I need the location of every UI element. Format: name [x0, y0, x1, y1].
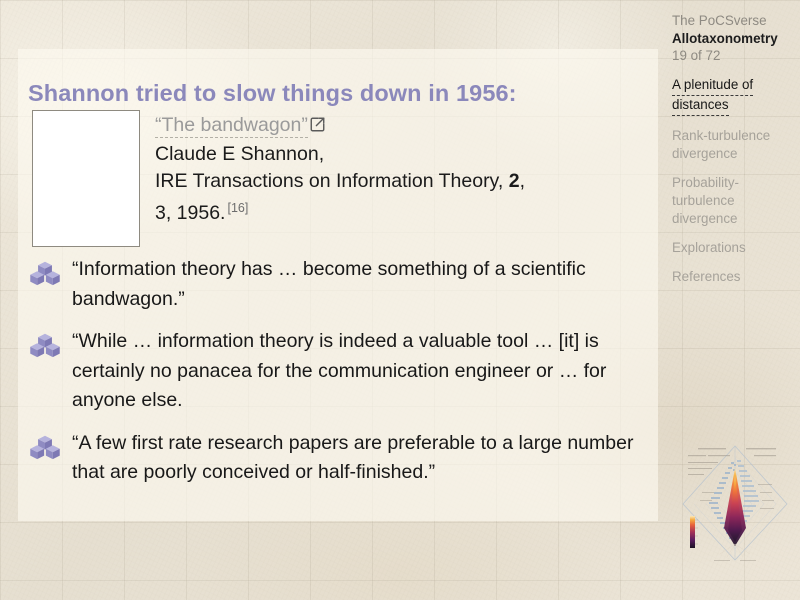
citation-block: “The bandwagon” Claude E Shannon, IRE Tr…: [155, 112, 655, 227]
sidebar-item-a-plenitude-of-distances[interactable]: A plenitude of distances: [672, 76, 794, 116]
sidebar-item-label: turbulence: [672, 192, 735, 210]
sidebar-item-label: Rank-turbulence: [672, 127, 770, 145]
reference-mark[interactable]: [16]: [227, 201, 248, 215]
sidebar-item-rank-turbulence-divergence[interactable]: Rank-turbulence divergence: [672, 127, 794, 163]
cubes-icon: [30, 332, 60, 358]
sidebar-brand: The PoCSverse: [672, 12, 794, 30]
sidebar-item-label: A plenitude of: [672, 76, 753, 96]
citation-journal-name: IRE Transactions on Information Theory,: [155, 170, 509, 192]
sidebar-item-label: divergence: [672, 210, 738, 228]
citation-journal: IRE Transactions on Information Theory, …: [155, 168, 655, 195]
sidebar-item-label: divergence: [672, 145, 738, 163]
sidebar-item-label: Probability-: [672, 174, 739, 192]
citation-issue-year-line: 3, 1956.[16]: [155, 195, 655, 227]
quote-list: “Information theory has … become somethi…: [30, 255, 650, 501]
sidebar-item-probability-turbulence-divergence[interactable]: Probability- turbulence divergence: [672, 174, 794, 228]
citation-issue-year: 3, 1956.: [155, 202, 225, 224]
list-item: “While … information theory is indeed a …: [30, 327, 650, 416]
list-item: “A few first rate research papers are pr…: [30, 429, 650, 488]
quote-text: “Information theory has … become somethi…: [72, 255, 650, 314]
citation-author: Claude E Shannon,: [155, 141, 655, 168]
sidebar-item-explorations[interactable]: Explorations: [672, 239, 794, 257]
quote-text: “While … information theory is indeed a …: [72, 327, 650, 416]
sidebar-item-references[interactable]: References: [672, 268, 794, 286]
citation-volume: 2: [509, 170, 520, 192]
allotaxonometry-diamond-plot-thumbnail: [672, 432, 798, 572]
paper-thumbnail[interactable]: [32, 110, 140, 247]
slide-canvas: Shannon tried to slow things down in 195…: [0, 0, 800, 600]
cubes-icon: [30, 434, 60, 460]
list-item: “Information theory has … become somethi…: [30, 255, 650, 314]
page-indicator: 19 of 72: [672, 47, 794, 65]
citation-title-line: “The bandwagon”: [155, 112, 655, 141]
quote-text: “A few first rate research papers are pr…: [72, 429, 650, 488]
citation-journal-suffix: ,: [520, 170, 525, 192]
page-title: Shannon tried to slow things down in 195…: [28, 78, 638, 108]
sidebar-navigation: The PoCSverse Allotaxonometry 19 of 72 A…: [672, 12, 794, 297]
paper-title-link[interactable]: “The bandwagon”: [155, 114, 308, 138]
sidebar-item-label: distances: [672, 96, 729, 116]
sidebar-deck-title: Allotaxonometry: [672, 30, 794, 48]
cubes-icon: [30, 260, 60, 286]
sidebar-item-label: References: [672, 268, 740, 286]
sidebar-item-label: Explorations: [672, 239, 746, 257]
external-link-icon[interactable]: [309, 114, 326, 141]
